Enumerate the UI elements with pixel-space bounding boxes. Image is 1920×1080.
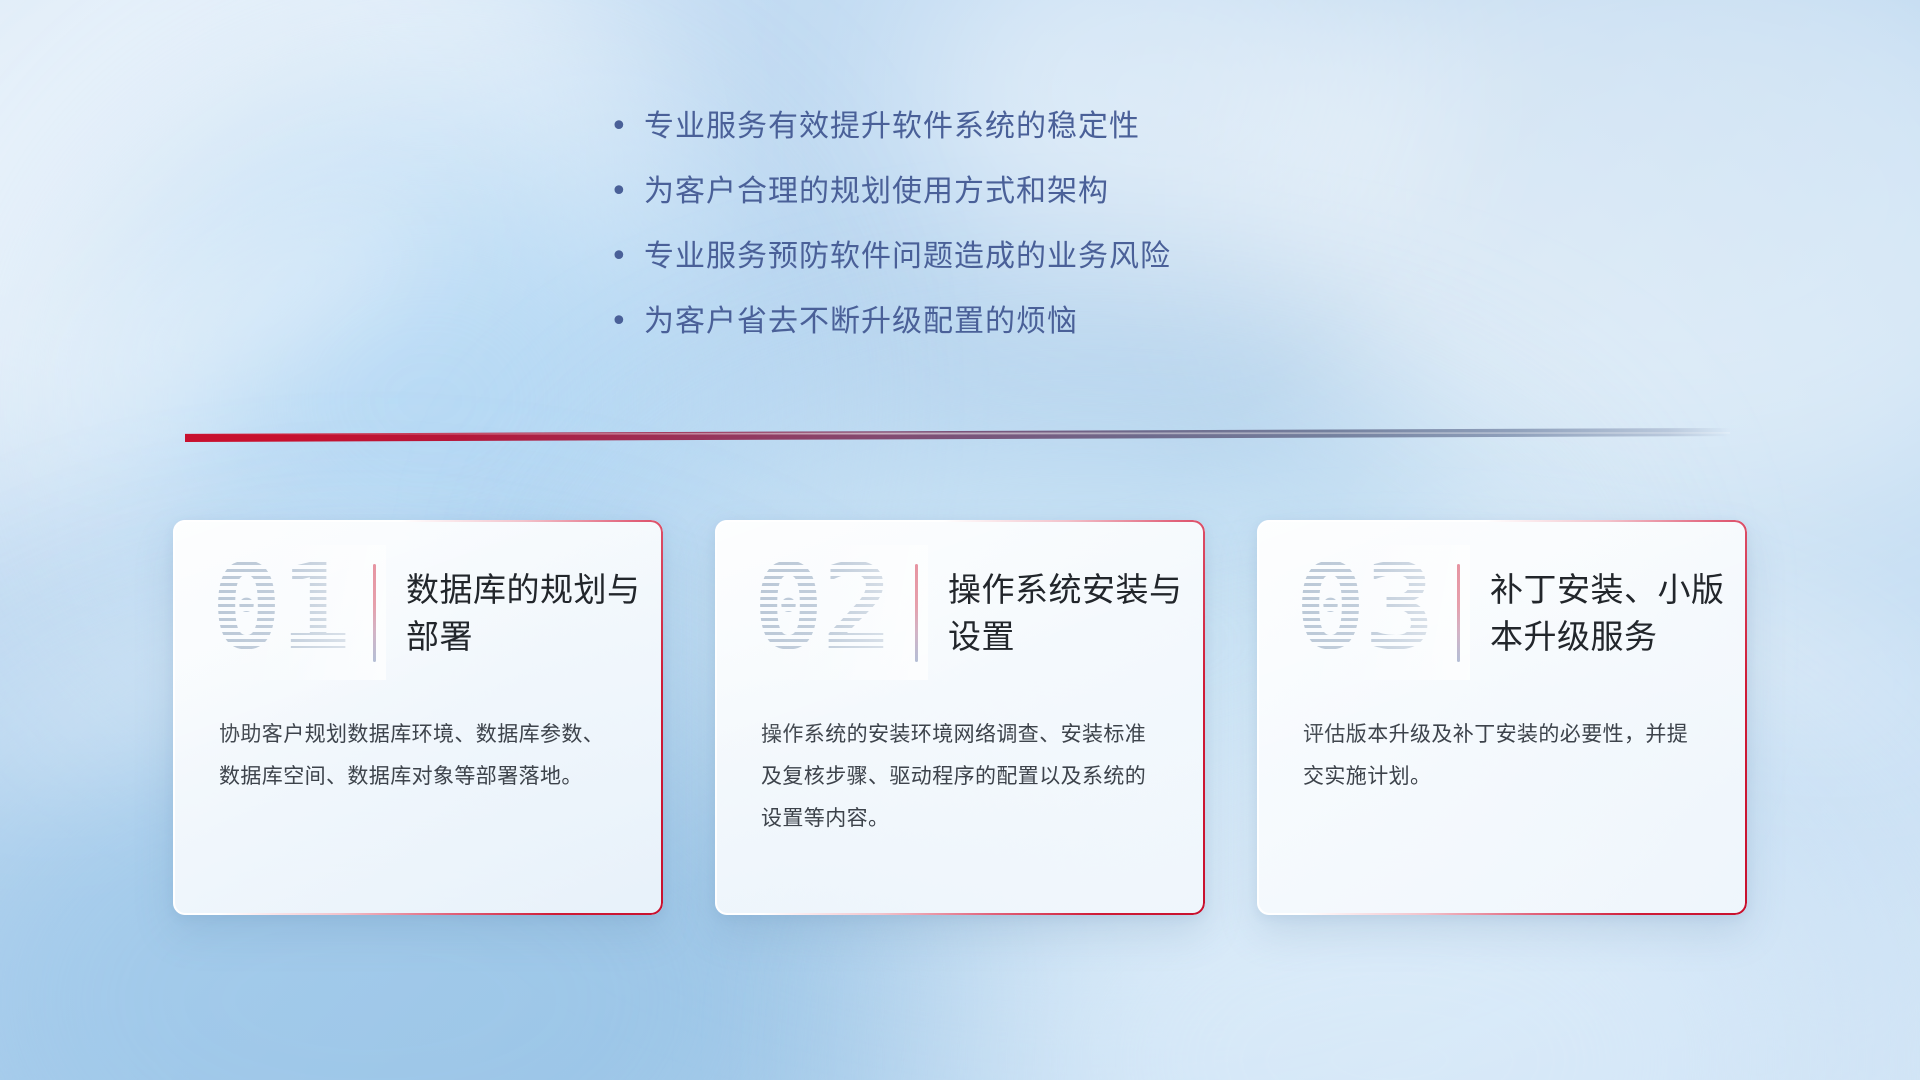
card-number-wrap: 01 <box>219 551 369 676</box>
card-number-wrap: 03 <box>1303 551 1453 676</box>
card-header: 01 数据库的规划与部署 <box>173 520 663 706</box>
card-title: 补丁安装、小版本升级服务 <box>1490 566 1740 660</box>
bullet-text: 为客户合理的规划使用方式和架构 <box>644 173 1109 211</box>
bullet-dot-icon: • <box>610 108 644 146</box>
card-row: 01 数据库的规划与部署 协助客户规划数据库环境、数据库参数、数据库空间、数据库… <box>0 520 1920 915</box>
card-title: 操作系统安装与设置 <box>948 566 1198 660</box>
bullet-dot-icon: • <box>610 303 644 341</box>
bullet-text: 专业服务有效提升软件系统的稳定性 <box>644 108 1140 146</box>
card-number-fade <box>1295 545 1470 680</box>
card-title: 数据库的规划与部署 <box>406 566 656 660</box>
card-header: 03 补丁安装、小版本升级服务 <box>1257 520 1747 706</box>
card-02[interactable]: 02 操作系统安装与设置 操作系统的安装环境网络调查、安装标准及复核步骤、驱动程… <box>715 520 1205 915</box>
list-item: • 专业服务有效提升软件系统的稳定性 <box>610 108 1310 173</box>
bullet-text: 专业服务预防软件问题造成的业务风险 <box>644 238 1171 276</box>
list-item: • 为客户省去不断升级配置的烦恼 <box>610 303 1310 368</box>
list-item: • 为客户合理的规划使用方式和架构 <box>610 173 1310 238</box>
bullet-text: 为客户省去不断升级配置的烦恼 <box>644 303 1078 341</box>
card-number-fade <box>753 545 928 680</box>
card-03[interactable]: 03 补丁安装、小版本升级服务 评估版本升级及补丁安装的必要性，并提交实施计划。 <box>1257 520 1747 915</box>
card-header: 02 操作系统安装与设置 <box>715 520 1205 706</box>
divider-bar <box>185 428 1730 442</box>
card-01[interactable]: 01 数据库的规划与部署 协助客户规划数据库环境、数据库参数、数据库空间、数据库… <box>173 520 663 915</box>
card-body: 评估版本升级及补丁安装的必要性，并提交实施计划。 <box>1257 706 1747 798</box>
list-item: • 专业服务预防软件问题造成的业务风险 <box>610 238 1310 303</box>
bullet-list: • 专业服务有效提升软件系统的稳定性 • 为客户合理的规划使用方式和架构 • 专… <box>0 108 1920 368</box>
section-divider <box>185 428 1730 442</box>
card-number-fade <box>211 545 386 680</box>
bullet-dot-icon: • <box>610 173 644 211</box>
card-body: 操作系统的安装环境网络调查、安装标准及复核步骤、驱动程序的配置以及系统的设置等内… <box>715 706 1205 840</box>
card-body: 协助客户规划数据库环境、数据库参数、数据库空间、数据库对象等部署落地。 <box>173 706 663 798</box>
bullet-dot-icon: • <box>610 238 644 276</box>
card-number-wrap: 02 <box>761 551 911 676</box>
